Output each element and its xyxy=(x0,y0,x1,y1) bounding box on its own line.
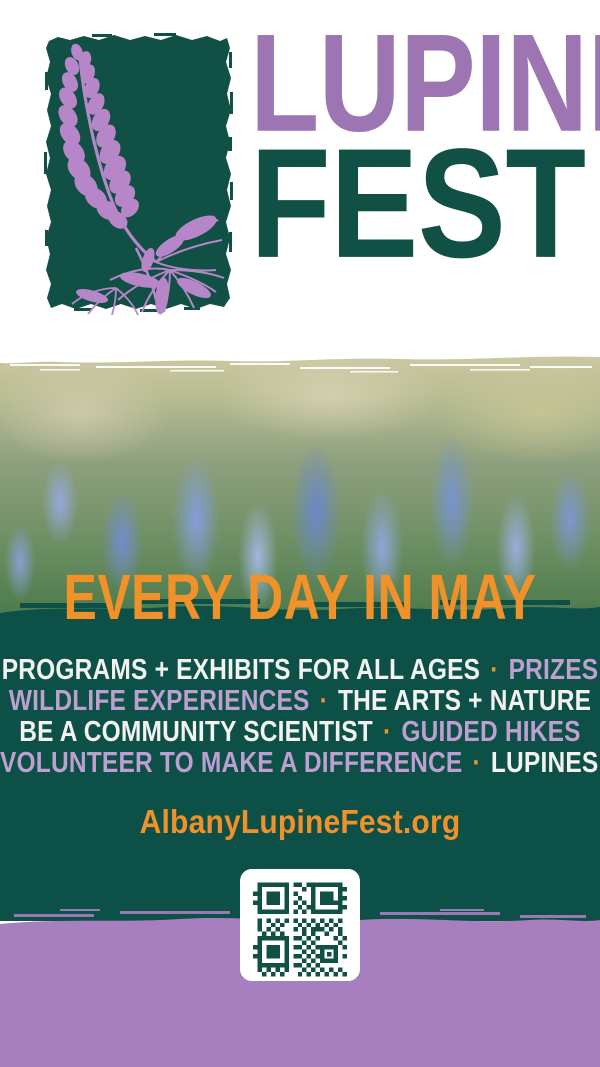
tagline-bullet-icon: · xyxy=(380,717,394,748)
wordmark: LUPINE FEST xyxy=(250,22,590,322)
tagline-row: VOLUNTEER TO MAKE A DIFFERENCE · LUPINES… xyxy=(0,746,600,782)
qr-code[interactable] xyxy=(240,869,360,981)
tagline-segment: THE ARTS + NATURE xyxy=(338,686,591,717)
tagline-segment: BE A COMMUNITY SCIENTIST xyxy=(19,717,373,748)
website-url-link[interactable]: AlbanyLupineFest.org xyxy=(0,804,600,842)
tagline-segment: GUIDED HIKES xyxy=(401,717,580,748)
lupine-flower-illustration-icon xyxy=(44,32,234,315)
tagline-list: PROGRAMS + EXHIBITS FOR ALL AGES · PRIZE… xyxy=(0,655,600,779)
wordmark-line-fest: FEST xyxy=(250,142,600,267)
photo-top-brush-edge xyxy=(0,352,600,378)
page-title: EVERY DAY IN MAY xyxy=(0,565,600,629)
tagline-segment: WILDLIFE EXPERIENCES xyxy=(9,686,310,717)
logo-band: LUPINE FEST xyxy=(0,0,600,352)
tagline-bullet-icon: · xyxy=(317,686,331,717)
tagline-bullet-icon: · xyxy=(487,655,501,686)
lupine-fest-poster: LUPINE FEST xyxy=(0,0,600,1067)
tagline-segment: PROGRAMS + EXHIBITS FOR ALL AGES xyxy=(2,655,481,686)
tagline-segment: LUPINES! xyxy=(491,748,600,779)
tagline-segment: VOLUNTEER TO MAKE A DIFFERENCE xyxy=(0,748,462,779)
tagline-segment: PRIZES xyxy=(509,655,599,686)
tagline-bullet-icon: · xyxy=(469,748,483,779)
